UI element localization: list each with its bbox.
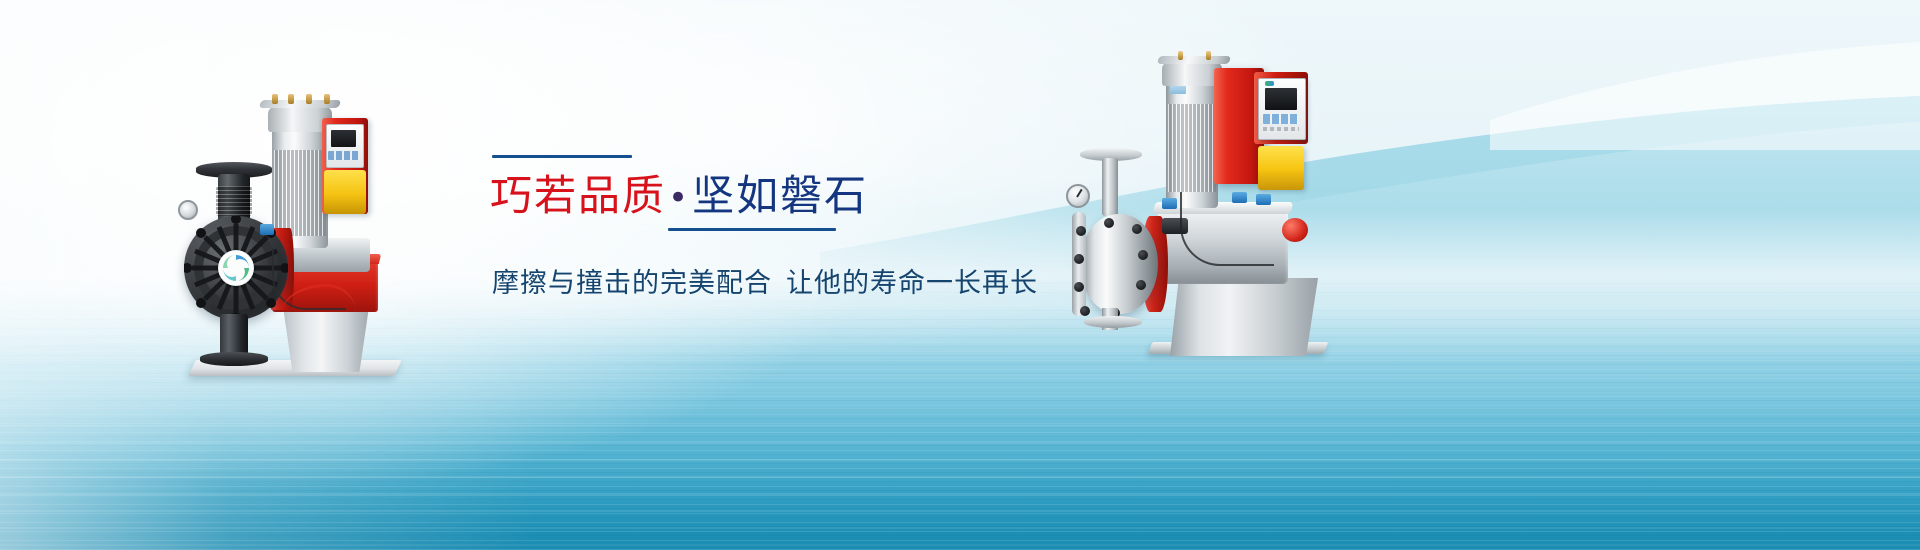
headline: 巧若品质•坚如磐石 bbox=[490, 174, 1050, 219]
left-pump-blue-fitting bbox=[260, 224, 274, 235]
right-pump-brass-bolt bbox=[1178, 51, 1183, 60]
subtitle: 摩擦与撞击的完美配合让他的寿命一长再长 bbox=[492, 261, 1050, 300]
left-pump-pressure-gauge bbox=[178, 200, 198, 220]
left-pump-lcd-screen bbox=[331, 130, 356, 147]
left-pump-keypad bbox=[328, 151, 360, 160]
left-pump-brass-bolt bbox=[324, 94, 330, 104]
product-image-left-pump bbox=[176, 78, 412, 398]
headline-part-navy: 坚如磐石 bbox=[692, 171, 868, 220]
left-pump-neck-ribs bbox=[216, 186, 252, 216]
headline-separator-dot: • bbox=[666, 178, 692, 218]
right-pump-yellow-junction-box bbox=[1258, 146, 1304, 190]
left-pump-brass-bolt bbox=[288, 94, 294, 104]
left-pump-brass-bolt bbox=[306, 94, 312, 104]
right-pump-top-plate bbox=[1157, 56, 1231, 64]
right-pump-motor-cap bbox=[1162, 62, 1222, 86]
right-pump-head-bolt bbox=[1138, 250, 1148, 260]
right-pump-head-bolt bbox=[1074, 254, 1084, 264]
right-pump-lcd-screen bbox=[1265, 88, 1297, 110]
subtitle-segment-2: 让他的寿命一长再长 bbox=[786, 268, 1038, 299]
banner-copy-block: 巧若品质•坚如磐石 摩擦与撞击的完美配合让他的寿命一长再长 bbox=[490, 155, 1050, 300]
right-pump-cable bbox=[1180, 192, 1274, 266]
right-pump-motor-cooling-fins bbox=[1168, 104, 1216, 192]
right-pump-head-bolt bbox=[1132, 224, 1142, 234]
right-pump-keypad bbox=[1263, 114, 1299, 124]
headline-rule-top bbox=[492, 155, 632, 158]
right-pump-head-bolt bbox=[1076, 226, 1086, 236]
right-pump-pedestal bbox=[1170, 278, 1318, 356]
left-pump-brass-bolt bbox=[272, 94, 278, 104]
right-pump-head bbox=[1080, 214, 1158, 314]
right-pump-outlet-flange bbox=[1084, 316, 1142, 328]
right-pump-head-bolt bbox=[1104, 218, 1114, 228]
right-pump-controller-logo bbox=[1265, 81, 1274, 86]
right-pump-head-bolt bbox=[1080, 306, 1090, 316]
subtitle-segment-1: 摩擦与撞击的完美配合 bbox=[492, 268, 772, 299]
right-pump-blue-fitting bbox=[1162, 198, 1177, 209]
right-pump-stroke-adjust-knob bbox=[1282, 218, 1308, 242]
headline-rule-bottom bbox=[668, 228, 836, 231]
right-pump-keypad-labels bbox=[1263, 127, 1299, 131]
hero-banner: 巧若品质•坚如磐石 摩擦与撞击的完美配合让他的寿命一长再长 bbox=[0, 0, 1920, 550]
left-pump-brand-logo bbox=[218, 250, 254, 286]
right-pump-inlet-riser bbox=[1102, 158, 1118, 216]
headline-part-red: 巧若品质 bbox=[490, 171, 666, 220]
right-pump-head-bolt bbox=[1074, 282, 1084, 292]
left-pump-yellow-junction-box bbox=[324, 170, 366, 214]
right-pump-head-bolt bbox=[1136, 280, 1146, 290]
right-pump-brass-bolt bbox=[1206, 51, 1211, 60]
left-pump-lower-flange bbox=[200, 352, 268, 366]
product-image-right-pump bbox=[1062, 40, 1324, 340]
